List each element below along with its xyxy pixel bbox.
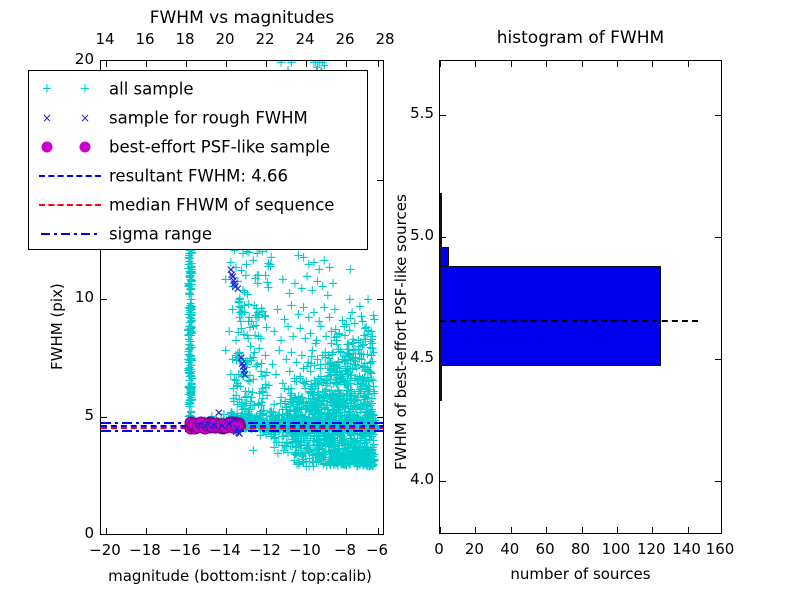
legend[interactable]: + + all sample × × sample for rough FWHM…	[28, 70, 368, 250]
top-tick-label: 20	[205, 30, 245, 48]
x-tick-label: 160	[698, 540, 742, 558]
legend-label: all sample	[109, 79, 194, 98]
scatter-point-all: +	[328, 278, 339, 291]
histogram-bars-layer	[440, 61, 721, 533]
bottom-tick-label: −6	[352, 541, 402, 559]
legend-marker-sigma-range	[33, 219, 107, 248]
left-panel-x-axis-label: magnitude (bottom:isnt / top:calib)	[90, 567, 390, 585]
scatter-point-all: +	[236, 397, 247, 410]
scatter-point-rough: ✕	[230, 281, 240, 293]
legend-item-rough-fwhm[interactable]: × × sample for rough FWHM	[29, 103, 367, 132]
legend-marker-all-sample: + +	[33, 74, 107, 103]
dashed-line-icon	[39, 175, 101, 177]
scatter-point-all: +	[317, 60, 328, 70]
scatter-point-rough: ✕	[239, 365, 249, 377]
scatter-point-all: +	[252, 269, 263, 282]
legend-label: best-effort PSF-like sample	[109, 137, 330, 156]
scatter-point-rough: ✕	[214, 407, 224, 419]
cross-icon: ×	[42, 112, 52, 124]
right-panel-axes-frame	[439, 60, 722, 534]
right-panel-title: histogram of FWHM	[439, 28, 722, 48]
legend-item-psf-like-sample[interactable]: best-effort PSF-like sample	[29, 132, 367, 161]
scatter-point-all: +	[186, 392, 197, 405]
histogram-median-line	[440, 320, 698, 322]
scatter-point-all: +	[329, 304, 340, 317]
left-panel-title: FWHM vs magnitudes	[100, 8, 384, 28]
right-panel-y-axis-label: FWHM of best-effort PSF-like sources	[392, 194, 410, 470]
left-panel-top-tick-labels: 14 16 18 20 22 24 26 28	[100, 30, 384, 50]
scatter-point-all: +	[186, 328, 197, 341]
scatter-point-all: +	[345, 264, 356, 277]
top-tick-label: 16	[125, 30, 165, 48]
scatter-point-all: +	[324, 261, 335, 274]
scatter-point-all: +	[341, 449, 352, 462]
y-tick-label: 5	[58, 406, 94, 424]
scatter-point-all: +	[360, 437, 371, 450]
y-tick-label: 4.0	[394, 470, 434, 488]
dashed-line-icon	[39, 204, 101, 206]
histogram-bar	[440, 193, 442, 247]
scatter-point-all: +	[265, 258, 276, 271]
scatter-point-all: +	[347, 306, 358, 319]
scatter-point-rough: ✕	[203, 419, 213, 431]
scatter-point-all: +	[243, 332, 254, 345]
scatter-point-all: +	[277, 273, 288, 286]
y-tick-label: 0	[58, 524, 94, 542]
legend-item-median-fhwm[interactable]: median FHWM of sequence	[29, 190, 367, 219]
legend-label: resultant FWHM: 4.66	[109, 166, 288, 185]
scatter-point-all: +	[186, 349, 197, 362]
top-tick-label: 14	[85, 30, 125, 48]
left-panel-y-axis-label: FWHM (pix)	[48, 283, 66, 370]
legend-label: sample for rough FWHM	[109, 108, 308, 127]
top-tick-label: 26	[325, 30, 365, 48]
scatter-point-all: +	[253, 330, 264, 343]
left-panel-bottom-tick-labels: −20 −18 −16 −14 −12 −10 −8 −6	[100, 541, 384, 561]
scatter-point-rough: ✕	[234, 427, 244, 439]
scatter-point-all: +	[350, 351, 361, 364]
circle-icon	[80, 141, 91, 152]
scatter-point-all: +	[344, 325, 355, 338]
scatter-point-all: +	[263, 282, 274, 295]
histogram-bar	[440, 366, 442, 400]
scatter-point-all: +	[356, 455, 367, 468]
top-tick-label: 18	[165, 30, 205, 48]
scatter-point-all: +	[286, 60, 297, 70]
scatter-point-all: +	[336, 373, 347, 386]
plus-icon: +	[80, 82, 91, 95]
scatter-point-all: +	[246, 316, 257, 329]
y-tick-label: 5.5	[394, 104, 434, 122]
legend-item-all-sample[interactable]: + + all sample	[29, 74, 367, 103]
scatter-point-all: +	[367, 337, 378, 350]
scatter-point-all: +	[249, 299, 260, 312]
scatter-point-rough: ✕	[224, 418, 234, 430]
legend-item-resultant-fwhm[interactable]: resultant FWHM: 4.66	[29, 161, 367, 190]
legend-marker-rough-fwhm: × ×	[33, 103, 107, 132]
right-panel-x-axis-label: number of sources	[439, 565, 722, 583]
scatter-point-all: +	[248, 444, 259, 457]
dashdot-line-icon	[41, 233, 99, 235]
right-panel-x-tick-labels: 0 20 40 60 80 100 120 140 160	[439, 540, 722, 560]
scatter-point-all: +	[356, 380, 367, 393]
legend-marker-median-fhwm	[33, 190, 107, 219]
scatter-point-all: +	[248, 254, 259, 267]
scatter-point-all: +	[302, 271, 313, 284]
legend-marker-resultant-fwhm	[33, 161, 107, 190]
histogram-bar	[440, 247, 449, 267]
legend-label: sigma range	[109, 224, 212, 243]
histogram-bar	[440, 266, 661, 366]
scatter-point-all: +	[184, 255, 195, 268]
scatter-point-all: +	[184, 287, 195, 300]
top-tick-label: 24	[285, 30, 325, 48]
top-tick-label: 22	[245, 30, 285, 48]
circle-icon	[42, 141, 53, 152]
top-tick-label: 28	[365, 30, 405, 48]
scatter-point-rough: ✕	[193, 419, 203, 431]
plus-icon: +	[42, 82, 53, 95]
y-tick-label: 20	[58, 50, 94, 68]
figure-canvas: FWHM vs magnitudes 14 16 18 20 22 24 26 …	[0, 0, 800, 600]
legend-marker-psf-like-sample	[33, 132, 107, 161]
right-panel: histogram of FWHM	[400, 0, 800, 600]
cross-icon: ×	[80, 112, 90, 124]
legend-label: median FHWM of sequence	[109, 195, 334, 214]
scatter-point-all: +	[248, 351, 259, 364]
scatter-point-all: +	[269, 442, 280, 455]
scatter-point-all: +	[363, 294, 374, 307]
legend-item-sigma-range[interactable]: sigma range	[29, 219, 367, 248]
scatter-point-all: +	[344, 293, 355, 306]
scatter-point-all: +	[186, 370, 197, 383]
